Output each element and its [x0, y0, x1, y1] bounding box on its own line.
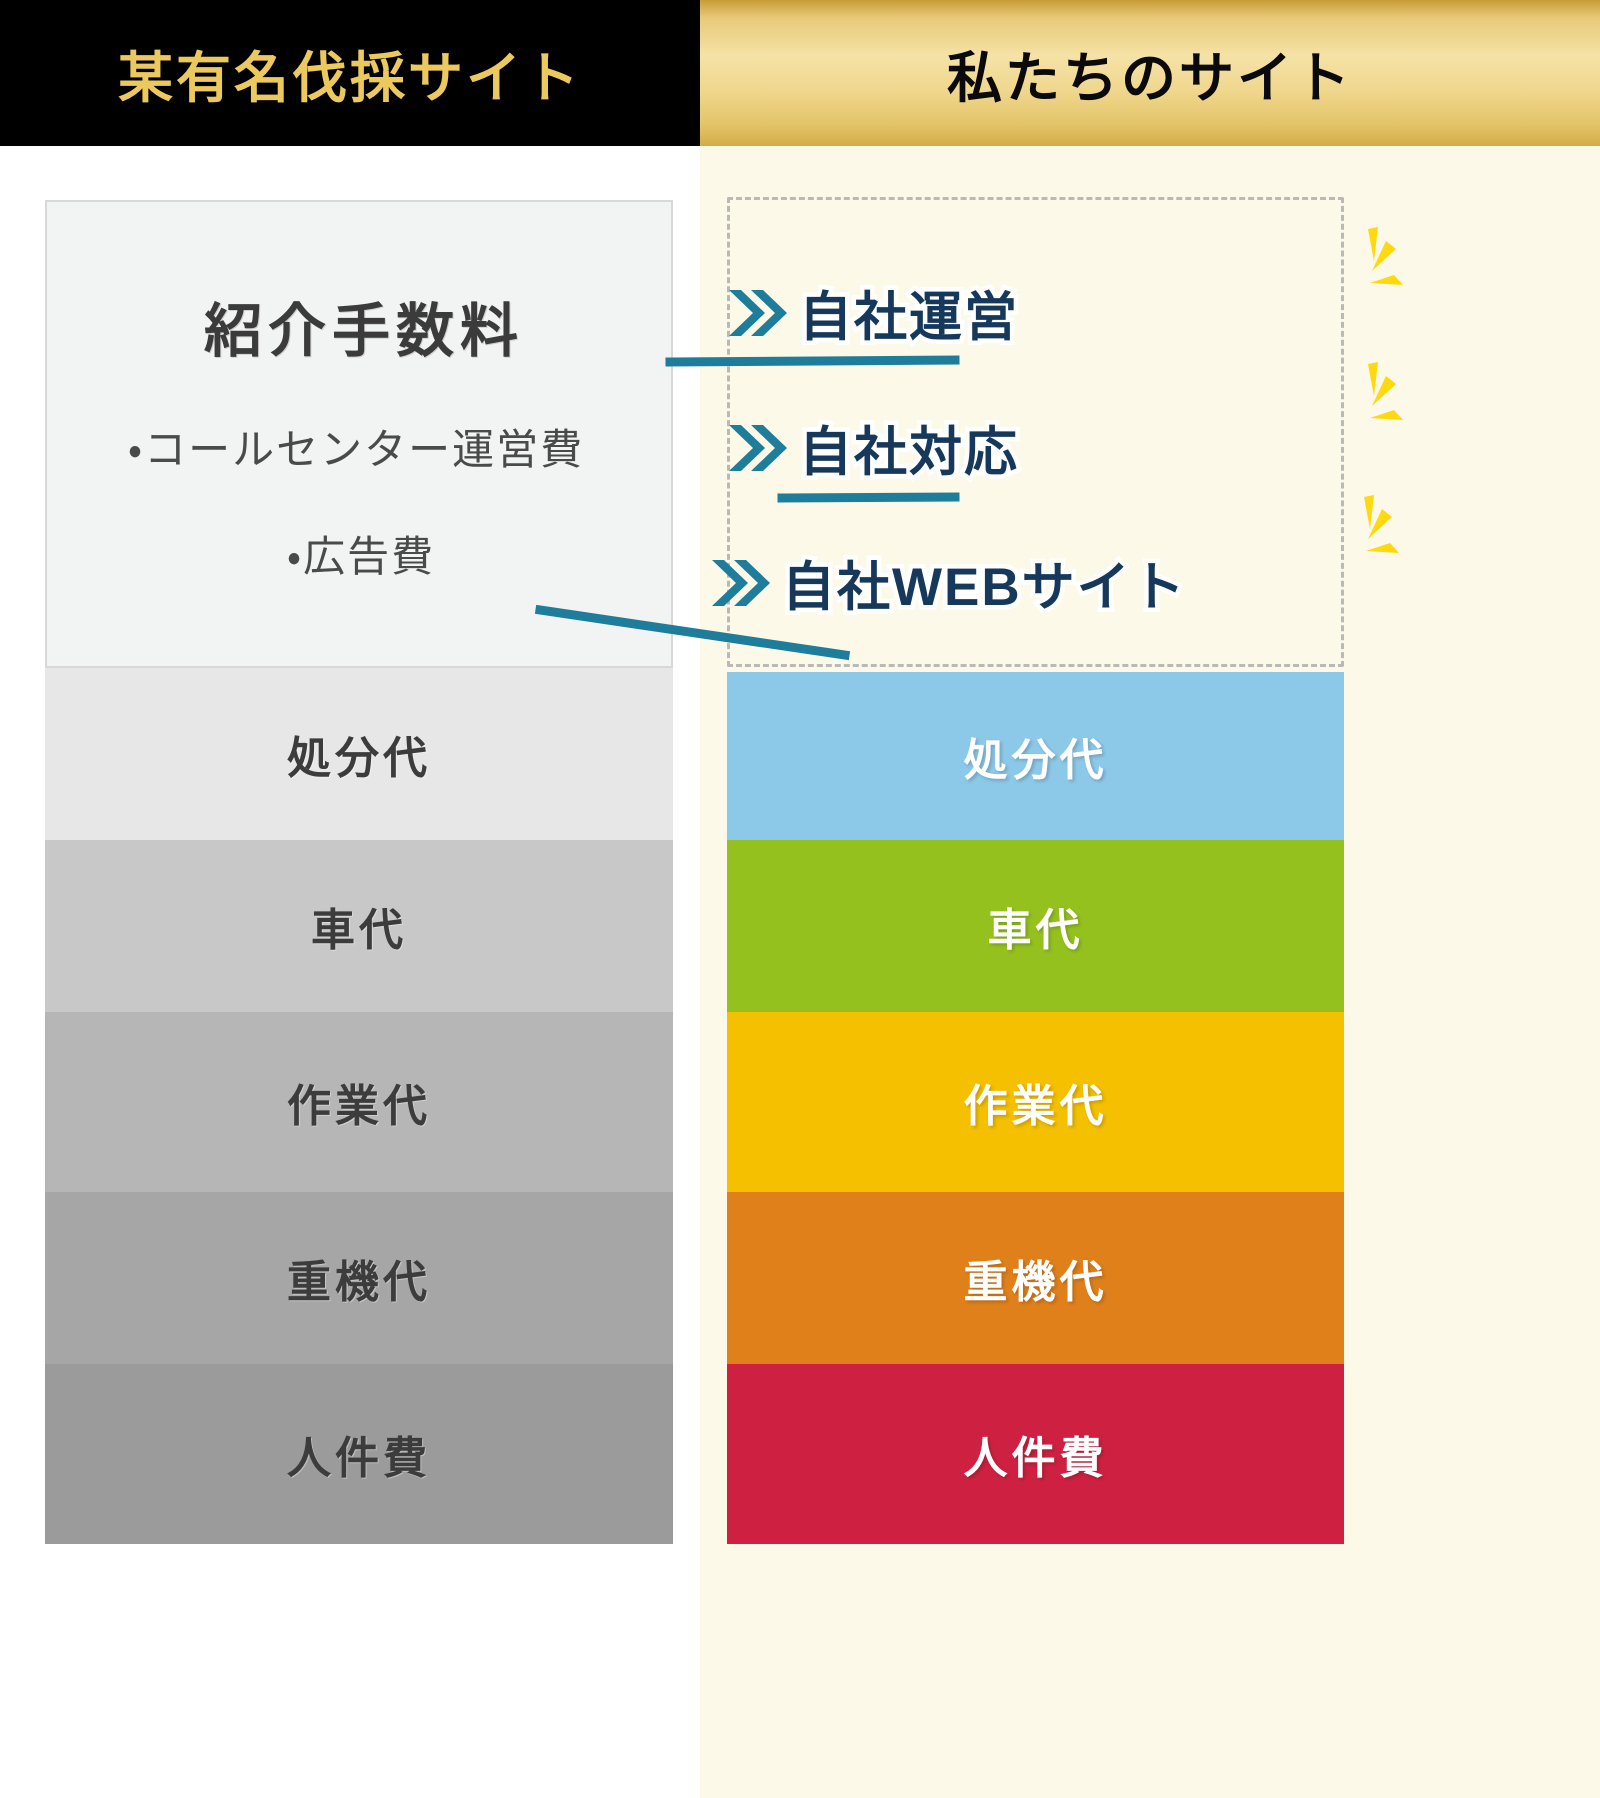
double-chevron-right-icon — [727, 419, 789, 477]
right-cost-bar-label: 作業代 — [964, 1070, 1108, 1134]
left-cost-bar-disposal: 処分代 — [45, 668, 673, 840]
left-cost-bar-label: 重機代 — [287, 1246, 431, 1310]
promise-row-self-support: 自社対応 — [727, 400, 1019, 496]
promise-row-self-website: 自社WEBサイト — [710, 535, 1187, 631]
right-cost-bar-label: 重機代 — [964, 1246, 1108, 1310]
right-header-title: 私たちのサイト — [947, 33, 1353, 113]
right-cost-bar-vehicle: 車代 — [727, 840, 1344, 1012]
comparison-infographic: 某有名伐採サイト 私たちのサイト 紹介手数料 ・コールセンター運営費 ・広告費 … — [0, 0, 1600, 1798]
promise-label: 自社対応 — [799, 410, 1019, 486]
right-cost-bar-label: 処分代 — [964, 724, 1108, 788]
double-chevron-right-icon — [710, 554, 772, 612]
right-cost-bar-work: 作業代 — [727, 1012, 1344, 1192]
left-cost-bar-label: 作業代 — [287, 1070, 431, 1134]
promise-label: 自社WEBサイト — [782, 545, 1187, 621]
promise-row-self-operation: 自社運営 — [727, 265, 1019, 361]
promise-label-text: 自社運営 — [799, 288, 1019, 347]
promise-label-text: 自社WEBサイト — [782, 558, 1187, 617]
left-cost-bar-machinery: 重機代 — [45, 1192, 673, 1364]
referral-fee-title: 紹介手数料 — [204, 284, 524, 368]
right-cost-bar-labor: 人件費 — [727, 1364, 1344, 1544]
right-cost-bar-label: 車代 — [988, 894, 1084, 958]
right-cost-bar-label: 人件費 — [964, 1422, 1108, 1486]
fee-item-advertising: ・広告費 — [287, 523, 435, 584]
right-column-header: 私たちのサイト — [700, 0, 1600, 146]
right-cost-bar-machinery: 重機代 — [727, 1192, 1344, 1364]
left-column-header: 某有名伐採サイト — [0, 0, 700, 146]
left-cost-bar-label: 人件費 — [287, 1422, 431, 1486]
promise-label: 自社運営 — [799, 275, 1019, 351]
right-cost-bar-disposal: 処分代 — [727, 672, 1344, 840]
left-cost-bar-vehicle: 車代 — [45, 840, 673, 1012]
fee-item-call-center: ・コールセンター運営費 — [128, 416, 584, 477]
double-chevron-right-icon — [727, 284, 789, 342]
referral-fee-box: 紹介手数料 ・コールセンター運営費 ・広告費 — [45, 200, 673, 668]
left-header-title: 某有名伐採サイト — [118, 33, 582, 113]
left-cost-bar-work: 作業代 — [45, 1012, 673, 1192]
left-cost-bar-labor: 人件費 — [45, 1364, 673, 1544]
promise-label-text: 自社対応 — [799, 423, 1019, 482]
left-cost-bar-label: 処分代 — [287, 722, 431, 786]
left-cost-bar-label: 車代 — [311, 894, 407, 958]
